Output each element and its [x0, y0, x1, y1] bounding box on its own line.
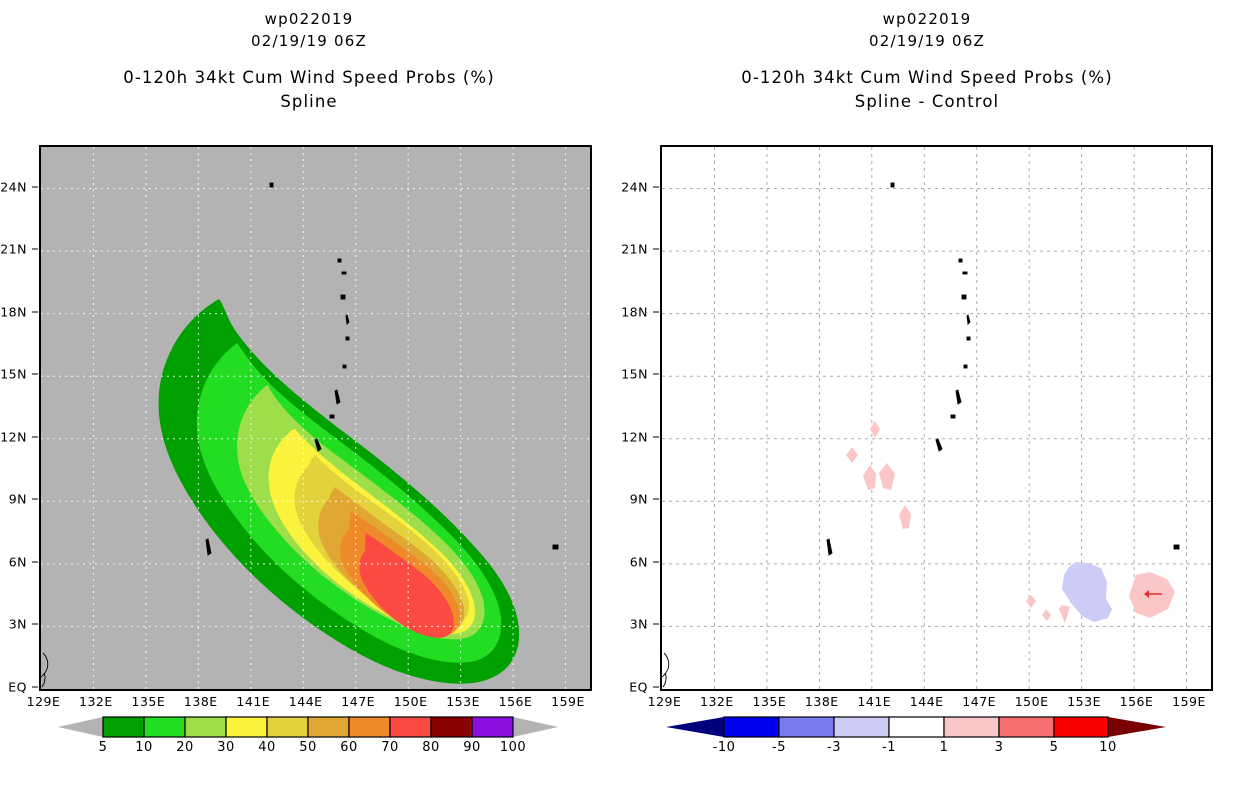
left-xtick-159e: 159E: [551, 694, 585, 709]
left-colorbar-label-50: 50: [299, 740, 317, 755]
right-xtick-138e: 138E: [805, 694, 839, 709]
right-storm-id: wp022019: [618, 8, 1236, 30]
left-colorbar-label-30: 30: [217, 740, 235, 755]
diff-patch-positive-6: [1129, 572, 1175, 618]
diff-patch-positive-3: [863, 465, 876, 490]
left-colorbar-label-70: 70: [381, 740, 399, 755]
left-xtick-147e: 147E: [341, 694, 375, 709]
right-gridlines: [662, 147, 1211, 689]
left-ytick-24n: 24N: [0, 179, 27, 194]
diff-patch-negative-1: [1062, 562, 1112, 622]
left-chart-title: 0-120h 34kt Cum Wind Speed Probs (%): [0, 66, 618, 90]
right-colorbar-label-neg5: -5: [772, 740, 786, 755]
right-ytick-eq: EQ: [614, 680, 648, 695]
left-colorbar-label-80: 80: [422, 740, 440, 755]
diff-patch-positive-8: [1042, 609, 1051, 621]
right-xtick-144e: 144E: [910, 694, 944, 709]
right-ytickmark-9n: [653, 499, 659, 500]
left-ytickmark-15n: [32, 374, 38, 375]
right-colorbar-svg: [666, 714, 1166, 740]
left-map-canvas: [39, 145, 592, 691]
right-xtick-141e: 141E: [857, 694, 891, 709]
left-ytick-eq: EQ: [0, 680, 27, 695]
right-colorbar-label-neg1: -1: [882, 740, 896, 755]
left-colorbar-label-90: 90: [463, 740, 481, 755]
left-datetime: 02/19/19 06Z: [0, 30, 618, 52]
diff-patch-positive-5: [899, 505, 911, 529]
right-xtick-159e: 159E: [1172, 694, 1206, 709]
right-xtick-129e: 129E: [648, 694, 682, 709]
left-ytickmark-eq: [32, 687, 38, 688]
left-contour-plot: [41, 147, 590, 689]
right-datetime: 02/19/19 06Z: [618, 30, 1236, 52]
right-colorbar-over-cap: [1108, 717, 1166, 737]
left-ytickmark-24n: [32, 186, 38, 187]
left-ytick-9n: 9N: [0, 492, 27, 507]
right-colorbar-label-neg3: -3: [827, 740, 841, 755]
right-ytickmark-eq: [653, 687, 659, 688]
left-ytick-18n: 18N: [0, 304, 27, 319]
right-colorbar-label-neg10: -10: [713, 740, 736, 755]
left-xtick-132e: 132E: [79, 694, 113, 709]
left-ytick-12n: 12N: [0, 429, 27, 444]
left-xtick-129e: 129E: [27, 694, 61, 709]
left-ytickmark-18n: [32, 311, 38, 312]
right-xtick-150e: 150E: [1015, 694, 1049, 709]
right-ytick-15n: 15N: [608, 367, 648, 382]
left-storm-id: wp022019: [0, 8, 618, 30]
left-title-block: wp022019 02/19/19 06Z 0-120h 34kt Cum Wi…: [0, 8, 618, 114]
left-colorbar-label-40: 40: [258, 740, 276, 755]
right-difference-patches: [846, 421, 1175, 623]
left-colorbar-label-5: 5: [99, 740, 108, 755]
left-colorbar-label-60: 60: [340, 740, 358, 755]
right-ytickmark-6n: [653, 561, 659, 562]
right-xtick-135e: 135E: [753, 694, 787, 709]
diff-patch-positive-9: [1059, 605, 1070, 623]
right-colorbar[interactable]: -10 -5 -3 -1 1 3 5 10: [666, 714, 1166, 740]
left-colorbar-label-10: 10: [135, 740, 153, 755]
right-colorbar-label-pos3: 3: [995, 740, 1004, 755]
right-ytickmark-18n: [653, 311, 659, 312]
right-colorbar-label-pos1: 1: [940, 740, 949, 755]
right-ytickmark-15n: [653, 374, 659, 375]
diff-patch-positive-7: [1026, 595, 1036, 608]
left-colorbar-bands: [103, 717, 513, 737]
right-ytick-3n: 3N: [614, 617, 648, 632]
diff-patch-positive-4: [879, 463, 895, 490]
right-xtick-156e: 156E: [1120, 694, 1154, 709]
right-ytickmark-3n: [653, 624, 659, 625]
right-chart-title: 0-120h 34kt Cum Wind Speed Probs (%): [618, 66, 1236, 90]
right-colorbar-bands: [724, 717, 1108, 737]
left-ytickmark-6n: [32, 561, 38, 562]
left-xtick-144e: 144E: [289, 694, 323, 709]
right-ytick-18n: 18N: [608, 304, 648, 319]
left-xtick-138e: 138E: [184, 694, 218, 709]
right-ytickmark-12n: [653, 436, 659, 437]
right-ytickmark-21n: [653, 249, 659, 250]
right-difference-plot: [662, 147, 1211, 689]
left-ytickmark-21n: [32, 249, 38, 250]
left-xtick-153e: 153E: [446, 694, 480, 709]
right-xtick-147e: 147E: [962, 694, 996, 709]
left-xtick-141e: 141E: [236, 694, 270, 709]
left-xtick-135e: 135E: [132, 694, 166, 709]
left-ytickmark-12n: [32, 436, 38, 437]
panel-spline-control: wp022019 02/19/19 06Z 0-120h 34kt Cum Wi…: [618, 0, 1236, 800]
left-colorbar-over-cap: [513, 717, 558, 737]
left-colorbar-under-cap: [58, 717, 103, 737]
left-ytickmark-9n: [32, 499, 38, 500]
left-xtick-156e: 156E: [499, 694, 533, 709]
right-ytick-6n: 6N: [614, 554, 648, 569]
left-xtick-150e: 150E: [394, 694, 428, 709]
left-colorbar-label-20: 20: [176, 740, 194, 755]
right-chart-subtitle: Spline - Control: [618, 90, 1236, 114]
right-colorbar-label-pos5: 5: [1050, 740, 1059, 755]
left-colorbar-svg: [58, 714, 558, 740]
right-ytick-24n: 24N: [608, 179, 648, 194]
right-colorbar-under-cap: [666, 717, 724, 737]
right-map-canvas: [660, 145, 1213, 691]
right-ytick-21n: 21N: [608, 242, 648, 257]
left-colorbar-label-100: 100: [500, 740, 526, 755]
left-ytick-15n: 15N: [0, 367, 27, 382]
right-colorbar-label-pos10: 10: [1099, 740, 1117, 755]
right-plot-area: EQ 3N 6N 9N 12N 15N 18N 21N 24N 129E 132…: [660, 145, 1213, 691]
left-plot-area: EQ 3N 6N 9N 12N 15N 18N 21N 24N 129E 132…: [39, 145, 592, 691]
left-ytick-6n: 6N: [0, 554, 27, 569]
right-xtick-132e: 132E: [700, 694, 734, 709]
panel-spline: wp022019 02/19/19 06Z 0-120h 34kt Cum Wi…: [0, 0, 618, 800]
diff-patch-positive-2: [846, 447, 858, 463]
left-ytickmark-3n: [32, 624, 38, 625]
left-ytick-3n: 3N: [0, 617, 27, 632]
right-xtick-153e: 153E: [1067, 694, 1101, 709]
left-colorbar[interactable]: 5 10 20 30 40 50 60 70 80 90 100: [58, 714, 558, 740]
left-ytick-21n: 21N: [0, 242, 27, 257]
left-chart-subtitle: Spline: [0, 90, 618, 114]
right-title-block: wp022019 02/19/19 06Z 0-120h 34kt Cum Wi…: [618, 8, 1236, 114]
right-ytick-12n: 12N: [608, 429, 648, 444]
right-ytickmark-24n: [653, 186, 659, 187]
right-ytick-9n: 9N: [614, 492, 648, 507]
